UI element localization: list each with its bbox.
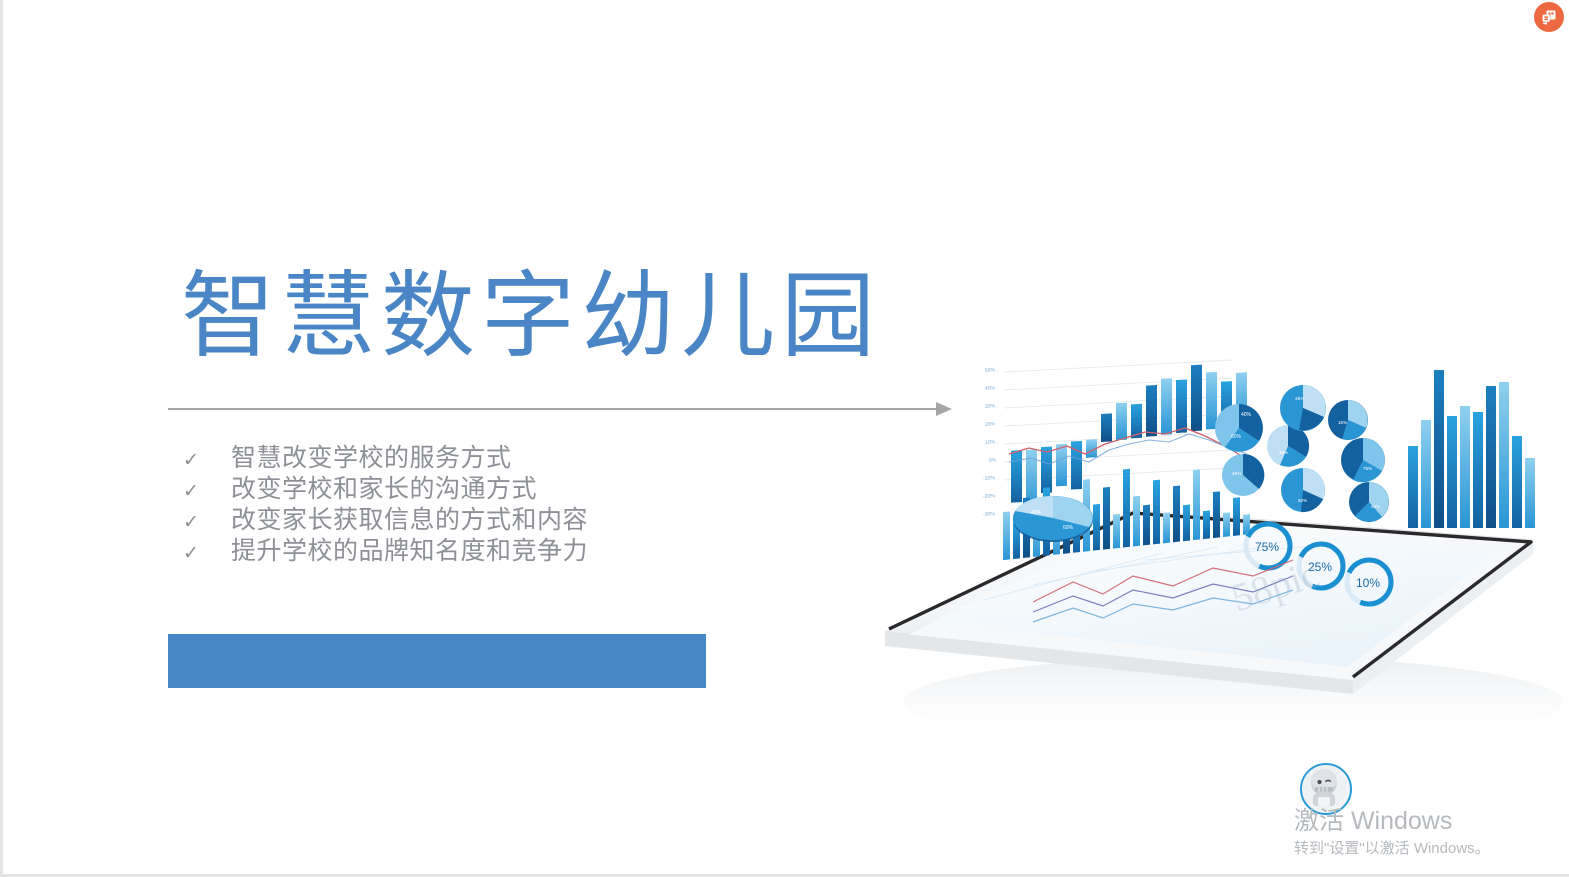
tablet-3d-analytics-illustration: 50% 40% 30% 20% 10% 0% -10% -20% -30% [833, 350, 1569, 770]
list-item: ✓ 改变学校和家长的沟通方式 [183, 474, 703, 505]
check-icon: ✓ [183, 538, 231, 569]
list-item: ✓ 改变家长获取信息的方式和内容 [183, 505, 703, 536]
svg-text:10%: 10% [1356, 576, 1380, 590]
check-icon: ✓ [183, 476, 231, 507]
list-item: ✓ 提升学校的品牌知名度和竞争力 [183, 536, 703, 567]
windows-activation-watermark: 激活 Windows 转到"设置"以激活 Windows。 [1294, 806, 1554, 860]
list-item-label: 改变家长获取信息的方式和内容 [231, 505, 588, 536]
accent-bar [168, 634, 706, 688]
activation-title: 激活 Windows [1294, 806, 1554, 836]
svg-text:40%: 40% [1241, 412, 1252, 418]
list-item: ✓ 智慧改变学校的服务方式 [183, 443, 703, 474]
svg-text:50%: 50% [985, 367, 996, 374]
svg-text:60%: 60% [1298, 498, 1307, 503]
list-item-label: 提升学校的品牌知名度和竞争力 [231, 536, 588, 567]
bullet-list: ✓ 智慧改变学校的服务方式 ✓ 改变学校和家长的沟通方式 ✓ 改变家长获取信息的… [183, 443, 703, 567]
svg-text:25%: 25% [1295, 396, 1305, 402]
presentation-slides-icon[interactable] [1534, 2, 1564, 32]
svg-text:60%: 60% [1231, 434, 1242, 440]
svg-text:-10%: -10% [983, 475, 996, 482]
svg-text:-20%: -20% [983, 493, 996, 500]
svg-text:30%: 30% [985, 403, 996, 410]
check-icon: ✓ [183, 507, 231, 538]
svg-text:45%: 45% [1371, 504, 1380, 509]
svg-text:-30%: -30% [983, 511, 996, 518]
page-title: 智慧数字幼儿园 [181, 260, 881, 372]
svg-text:10%: 10% [985, 439, 996, 446]
svg-text:40%: 40% [1031, 510, 1042, 516]
svg-text:0%: 0% [989, 457, 997, 464]
svg-text:45%: 45% [1279, 450, 1288, 455]
svg-text:60%: 60% [1063, 525, 1074, 531]
svg-text:40%: 40% [985, 385, 996, 392]
list-item-label: 改变学校和家长的沟通方式 [231, 474, 537, 505]
svg-text:75%: 75% [1255, 540, 1279, 554]
svg-text:75%: 75% [1363, 466, 1372, 471]
presentation-slide: 智慧数字幼儿园 ✓ 智慧改变学校的服务方式 ✓ 改变学校和家长的沟通方式 ✓ 改… [0, 0, 1569, 877]
check-icon: ✓ [183, 445, 231, 476]
svg-text:40%: 40% [1232, 471, 1242, 477]
svg-text:20%: 20% [985, 421, 996, 428]
svg-text:15%: 15% [1338, 420, 1347, 425]
list-item-label: 智慧改变学校的服务方式 [231, 443, 512, 474]
activation-subtitle: 转到"设置"以激活 Windows。 [1294, 838, 1554, 860]
